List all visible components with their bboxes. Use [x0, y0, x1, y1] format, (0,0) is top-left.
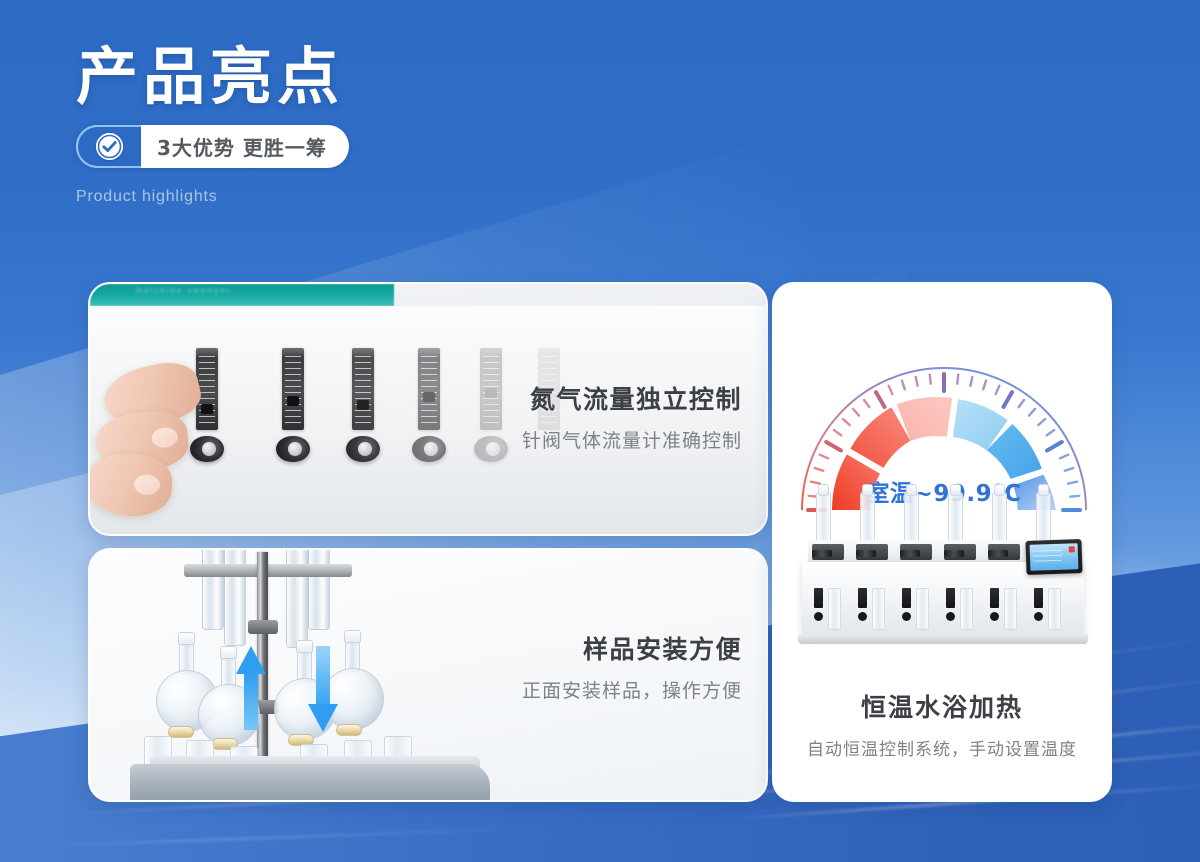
- card-subtitle: 针阀气体流量计准确控制: [522, 426, 742, 453]
- product-highlights-page: 产品亮点 3大优势 更胜一筹 Product highlights Nalc: [0, 0, 1200, 862]
- panel-switch: [814, 588, 823, 608]
- stand-arm: [184, 564, 352, 577]
- highlight-card-water-bath[interactable]: 室温~99.9°C: [772, 282, 1112, 802]
- machine-base: [798, 634, 1088, 644]
- badge-label: 3大优势 更胜一筹: [141, 125, 349, 168]
- receiver-tube: [960, 588, 973, 630]
- lcd-screen: [1030, 543, 1079, 571]
- flow-tube: [282, 348, 304, 430]
- check-circle-icon: [96, 133, 123, 160]
- flow-tube: [418, 348, 440, 430]
- panel-switch: [1034, 588, 1043, 608]
- page-subtitle-en: Product highlights: [76, 188, 349, 206]
- card-caption-water-bath: 恒温水浴加热 自动恒温控制系统，手动设置温度: [774, 692, 1110, 760]
- panel-switch: [946, 588, 955, 608]
- arrow-up-icon: [236, 646, 266, 674]
- strip-text: Nalchide sweeper: [136, 286, 232, 295]
- water-bath-machine-photo: [798, 484, 1094, 674]
- highlight-card-nitrogen-flow[interactable]: Nalchide sweeper: [88, 282, 768, 536]
- fingernail: [151, 426, 179, 449]
- control-knob: [856, 550, 876, 557]
- card-subtitle: 自动恒温控制系统，手动设置温度: [774, 735, 1110, 760]
- flow-knob: [346, 436, 380, 462]
- flow-float: [357, 400, 369, 410]
- finger: [88, 453, 173, 518]
- condenser-tube: [286, 548, 308, 648]
- badge-icon-panel: [76, 125, 141, 168]
- condenser-tube: [202, 548, 224, 630]
- condenser-tube: [224, 548, 246, 646]
- receiver-tube: [828, 588, 841, 630]
- flow-knob: [412, 436, 446, 462]
- flow-float: [287, 396, 299, 406]
- card-subtitle: 正面安装样品，操作方便: [522, 676, 742, 703]
- flow-scale: [421, 356, 437, 424]
- panel-switch-knob: [990, 612, 999, 621]
- control-knob: [944, 550, 964, 557]
- fingernail: [134, 474, 161, 495]
- control-knob: [900, 550, 920, 557]
- page-header: 产品亮点 3大优势 更胜一筹 Product highlights: [76, 44, 349, 206]
- glassware-assembly: [120, 550, 490, 802]
- receiver-tube: [872, 588, 885, 630]
- vessel-cap: [906, 484, 917, 496]
- flow-tube: [480, 348, 502, 430]
- card-caption-sample: 样品安装方便 正面安装样品，操作方便: [522, 634, 742, 703]
- panel-switch-knob: [1034, 612, 1043, 621]
- arrow-down-stem: [316, 646, 330, 704]
- vessel-cap: [862, 484, 873, 496]
- card-caption-nitrogen: 氮气流量独立控制 针阀气体流量计准确控制: [522, 384, 742, 453]
- lcd-indicator: [1069, 546, 1075, 552]
- panel-switch-knob: [858, 612, 867, 621]
- control-knob: [988, 550, 1008, 557]
- flow-scale: [355, 356, 371, 424]
- stopcock-valve: [336, 724, 362, 736]
- vessel-cap: [994, 484, 1005, 496]
- hand-image: [88, 358, 236, 536]
- card-title: 氮气流量独立控制: [522, 384, 742, 415]
- condenser-tube: [308, 548, 330, 630]
- background-streak: [20, 827, 540, 848]
- teal-header-strip: Nalchide sweeper: [90, 284, 394, 306]
- flow-scale: [285, 356, 301, 424]
- flow-knob: [474, 436, 508, 462]
- receiver-tube: [1048, 588, 1061, 630]
- water-bath-content: 室温~99.9°C: [774, 284, 1110, 800]
- panel-switch: [990, 588, 999, 608]
- card-title: 恒温水浴加热: [774, 692, 1110, 723]
- flow-knob: [276, 436, 310, 462]
- flow-tube: [352, 348, 374, 430]
- panel-switch: [902, 588, 911, 608]
- flow-float: [485, 388, 497, 398]
- panel-switch: [858, 588, 867, 608]
- card-title: 样品安装方便: [522, 634, 742, 665]
- advantage-badge: 3大优势 更胜一筹: [76, 125, 349, 168]
- stainless-basin: [130, 764, 490, 802]
- panel-switch-knob: [946, 612, 955, 621]
- control-knob: [812, 550, 832, 557]
- panel-switch-knob: [902, 612, 911, 621]
- stopcock-valve: [168, 726, 194, 738]
- panel-switch-knob: [814, 612, 823, 621]
- flow-float: [423, 392, 435, 402]
- stand-clamp: [248, 620, 278, 634]
- vessel-cap: [818, 484, 829, 496]
- receiver-tube: [916, 588, 929, 630]
- receiver-tube: [1004, 588, 1017, 630]
- page-title: 产品亮点: [76, 44, 349, 109]
- highlight-card-sample-install[interactable]: 样品安装方便 正面安装样品，操作方便: [88, 548, 768, 802]
- arrow-down-icon: [308, 704, 338, 732]
- lcd-control-panel: [1025, 539, 1082, 575]
- arrow-up-stem: [244, 672, 258, 730]
- vessel-cap: [950, 484, 961, 496]
- vessel-cap: [1038, 484, 1049, 496]
